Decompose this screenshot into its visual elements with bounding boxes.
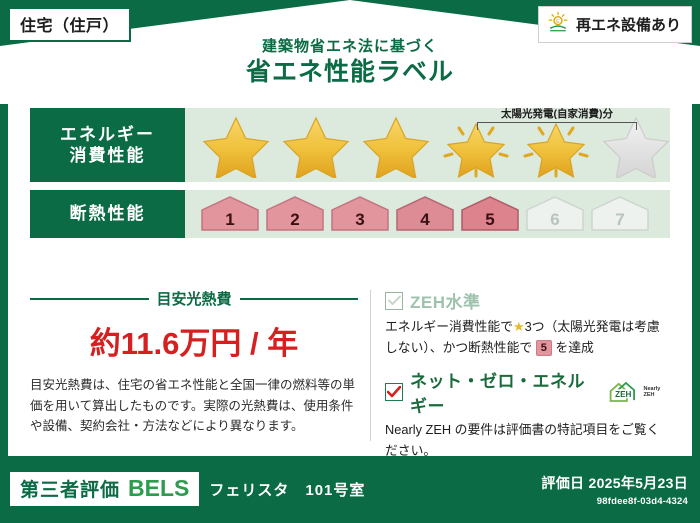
performance-block: エネルギー 消費性能 太陽光発電(自家消費)分 xyxy=(30,108,670,246)
star-1 xyxy=(197,112,275,178)
utility-cost-heading: 目安光熱費 xyxy=(30,288,358,309)
net-zero-energy-body: Nearly ZEH の要件は評価書の特記項目をご覧ください。 xyxy=(385,420,670,461)
footer-band: 第三者評価 BELS フェリスタ 101号室 評価日 2025年5月23日 98… xyxy=(0,461,700,523)
column-divider xyxy=(370,290,371,441)
insulation-performance-row: 断熱性能 1 2 3 xyxy=(30,190,670,238)
energy-label-line2: 消費性能 xyxy=(70,145,146,166)
utility-cost-heading-text: 目安光熱費 xyxy=(157,288,232,309)
zeh-standard-body: エネルギー消費性能で★3つ（太陽光発電は考慮しない）、かつ断熱性能で 5 を達成 xyxy=(385,316,670,358)
insulation-level-5: 5 xyxy=(459,194,521,234)
inline-star-icon: ★ xyxy=(513,319,525,334)
insulation-level-5-value: 5 xyxy=(485,210,494,230)
zeh-standard-title: ZEH水準 xyxy=(410,288,481,313)
bels-certification-box: 第三者評価 BELS xyxy=(10,472,199,506)
lower-section: 目安光熱費 約11.6万円 / 年 目安光熱費は、住宅の省エネ性能と全国一律の燃… xyxy=(30,288,670,443)
utility-cost-column: 目安光熱費 約11.6万円 / 年 目安光熱費は、住宅の省エネ性能と全国一律の燃… xyxy=(30,288,370,443)
net-zero-energy-header: ネット・ゼロ・エネルギー ZEH Nearly ZEH xyxy=(385,367,670,417)
footer-right-group: 評価日 2025年5月23日 98fdee8f-03d4-4324 xyxy=(541,473,688,507)
building-name: フェリスタ 101号室 xyxy=(209,479,365,500)
zeh-body-prefix: エネルギー消費性能で xyxy=(385,319,513,334)
svg-text:ZEH: ZEH xyxy=(615,390,631,399)
sun-icon: E xyxy=(547,11,569,38)
title-main: 省エネ性能ラベル xyxy=(0,58,700,87)
heading-rule-left xyxy=(30,298,149,300)
insulation-scale-area: 1 2 3 4 xyxy=(185,190,670,238)
label-title: 建築物省エネ法に基づく 省エネ性能ラベル xyxy=(0,38,700,87)
solar-annotation-text: 太陽光発電(自家消費)分 xyxy=(457,106,657,121)
energy-performance-row: エネルギー 消費性能 太陽光発電(自家消費)分 xyxy=(30,108,670,182)
insulation-level-2-value: 2 xyxy=(290,210,299,230)
insulation-level-4-value: 4 xyxy=(420,210,429,230)
insulation-level-7: 7 xyxy=(589,194,651,234)
label-card: エネルギー 消費性能 太陽光発電(自家消費)分 xyxy=(8,96,692,456)
insulation-level-4: 4 xyxy=(394,194,456,234)
inline-insulation-badge: 5 xyxy=(536,340,552,356)
zeh-logo-sub: Nearly ZEH xyxy=(644,386,671,398)
zeh-body-star-text: 3つ（太陽光発電 xyxy=(525,319,622,334)
net-zero-energy-title: ネット・ゼロ・エネルギー xyxy=(410,367,600,417)
zeh-column: ZEH水準 エネルギー消費性能で★3つ（太陽光発電は考慮しない）、かつ断熱性能で… xyxy=(381,288,670,443)
bels-logo-text: BELS xyxy=(128,475,189,502)
zeh-standard-item: ZEH水準 エネルギー消費性能で★3つ（太陽光発電は考慮しない）、かつ断熱性能で… xyxy=(385,288,670,358)
energy-label-line1: エネルギー xyxy=(60,124,155,145)
heading-rule-right xyxy=(240,298,359,300)
utility-cost-note: 目安光熱費は、住宅の省エネ性能と全国一律の燃料等の単価を用いて算出したものです。… xyxy=(30,375,358,437)
insulation-performance-label: 断熱性能 xyxy=(30,190,185,238)
footer-left-group: 第三者評価 BELS フェリスタ 101号室 xyxy=(10,472,365,506)
svg-text:E: E xyxy=(556,19,560,25)
zeh-body-suffix: を達成 xyxy=(555,340,593,355)
renewable-equipment-badge: E 再エネ設備あり xyxy=(538,6,692,43)
housing-type-tag: 住宅（住戸） xyxy=(8,7,131,42)
insulation-level-3: 3 xyxy=(329,194,391,234)
check-icon-grey xyxy=(385,292,403,310)
star-3 xyxy=(357,112,435,178)
insulation-level-6-value: 6 xyxy=(550,210,559,230)
insulation-level-3-value: 3 xyxy=(355,210,364,230)
energy-stars-area: 太陽光発電(自家消費)分 xyxy=(185,108,675,182)
insulation-level-6: 6 xyxy=(524,194,586,234)
net-zero-energy-item: ネット・ゼロ・エネルギー ZEH Nearly ZEH Nearly ZEH の… xyxy=(385,367,670,461)
energy-performance-label: エネルギー 消費性能 xyxy=(30,108,185,182)
zeh-standard-header: ZEH水準 xyxy=(385,288,670,313)
insulation-level-scale: 1 2 3 4 xyxy=(191,194,651,234)
bels-energy-label: 住宅（住戸） E 再エネ設備あり 建築物省エネ法に基づく 省エネ性能ラベル xyxy=(0,0,700,523)
third-party-eval-label: 第三者評価 xyxy=(20,475,120,502)
solar-annotation-bracket xyxy=(477,122,637,130)
check-icon-red xyxy=(385,383,403,401)
star-2 xyxy=(277,112,355,178)
utility-cost-amount: 約11.6万円 / 年 xyxy=(30,318,358,363)
solar-annotation: 太陽光発電(自家消費)分 xyxy=(457,106,657,130)
evaluation-date: 評価日 2025年5月23日 xyxy=(541,473,688,493)
insulation-level-7-value: 7 xyxy=(615,210,624,230)
renewable-badge-label: 再エネ設備あり xyxy=(576,14,681,35)
insulation-level-1-value: 1 xyxy=(225,210,234,230)
zeh-house-logo: ZEH Nearly ZEH xyxy=(607,379,670,405)
evaluation-id: 98fdee8f-03d4-4324 xyxy=(541,496,688,507)
insulation-level-1: 1 xyxy=(199,194,261,234)
insulation-level-2: 2 xyxy=(264,194,326,234)
